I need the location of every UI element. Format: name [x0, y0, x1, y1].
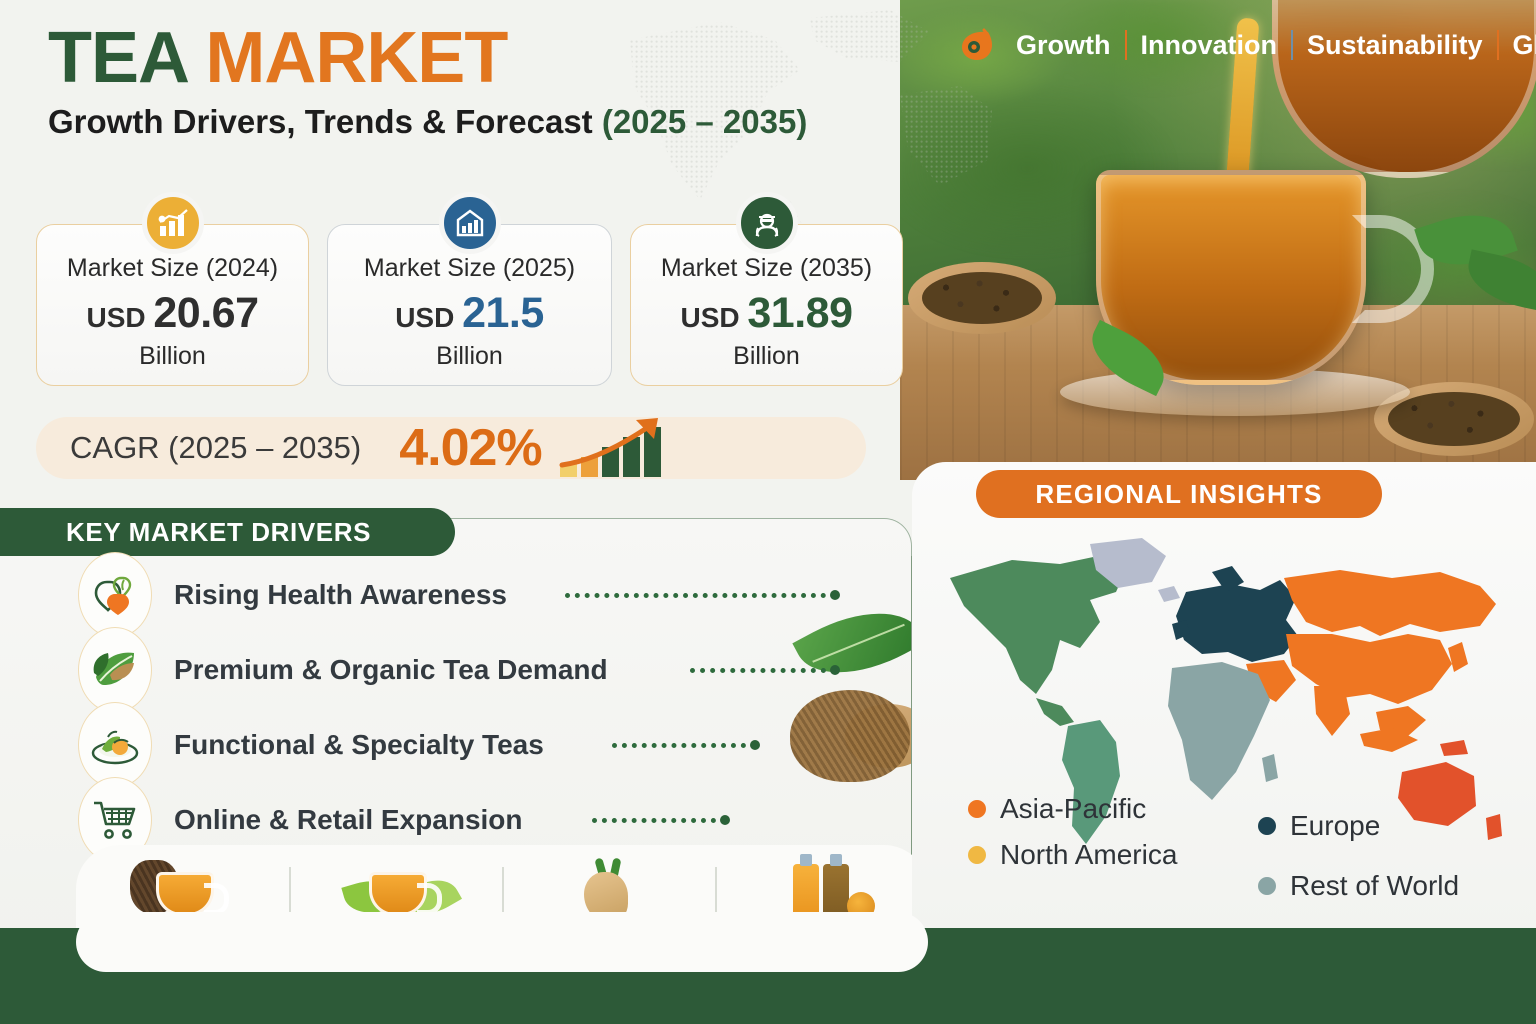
stat-currency: USD — [680, 302, 739, 333]
regional-heading-banner: REGIONAL INSIGHTS — [976, 470, 1382, 518]
stat-currency: USD — [86, 302, 145, 333]
legend-label: North America — [1000, 839, 1177, 871]
herbal-plate-icon — [78, 702, 152, 788]
decor-loose-tea-leaves — [790, 690, 910, 782]
stat-value: USD 20.67 — [86, 289, 258, 338]
footer-item-innovation[interactable]: Innovation — [1127, 30, 1292, 61]
legend-dot-icon — [1258, 877, 1276, 895]
stat-number: 21.5 — [462, 289, 544, 337]
driver-label: Rising Health Awareness — [174, 579, 507, 611]
legend-item-rest-of-world[interactable]: Rest of World — [1258, 870, 1528, 902]
stat-unit: Billion — [139, 342, 206, 371]
cagr-label: CAGR (2025 – 2035) — [70, 430, 361, 466]
footer-item-growth[interactable]: Growth — [1002, 30, 1125, 61]
legend-item-north-america[interactable]: North America — [968, 839, 1258, 871]
page-subtitle: Growth Drivers, Trends & Forecast (2025 … — [48, 103, 928, 141]
stat-card-2024[interactable]: Market Size (2024) USD 20.67 Billion — [36, 224, 309, 386]
page-title: TEA MARKET — [48, 22, 928, 95]
stat-label: Market Size (2025) — [364, 254, 575, 283]
map-region-asia-mainland — [1286, 634, 1452, 704]
driver-label: Premium & Organic Tea Demand — [174, 654, 608, 686]
legend-dot-icon — [968, 800, 986, 818]
driver-label: Functional & Specialty Teas — [174, 729, 544, 761]
map-region-iceland — [1158, 586, 1180, 602]
map-region-png — [1440, 740, 1468, 756]
stat-value: USD 31.89 — [680, 289, 852, 338]
cagr-value: 4.02% — [399, 418, 541, 478]
bar-chart-growth-icon — [142, 192, 204, 254]
footer-item-sustainability[interactable]: Sustainability — [1293, 30, 1497, 61]
legend-dot-icon — [968, 846, 986, 864]
subtitle-years: (2025 – 2035) — [602, 103, 808, 140]
legend-dot-icon — [1258, 817, 1276, 835]
stat-label: Market Size (2035) — [661, 254, 872, 283]
growth-bar-arrow-icon — [558, 417, 673, 479]
legend-item-asia-pacific[interactable]: Asia-Pacific — [968, 793, 1258, 825]
factory-chart-icon — [439, 192, 501, 254]
drivers-heading-banner: KEY MARKET DRIVERS — [0, 508, 455, 556]
map-region-asia-pacific — [1284, 570, 1496, 636]
subtitle-main: Growth Drivers, Trends & Forecast — [48, 103, 593, 140]
legend-label: Asia-Pacific — [1000, 793, 1146, 825]
title-word-tea: TEA — [48, 18, 186, 98]
legend-label: Europe — [1290, 810, 1380, 842]
driver-connector-4 — [592, 815, 730, 825]
stat-currency: USD — [395, 302, 454, 333]
stat-number: 20.67 — [153, 289, 258, 337]
driver-row-premium-organic-tea-demand[interactable]: Premium & Organic Tea Demand — [78, 631, 608, 709]
tea-farmer-icon — [736, 192, 798, 254]
regional-heading-label: REGIONAL INSIGHTS — [1035, 479, 1322, 510]
growth-leaf-logo-icon — [960, 28, 994, 62]
driver-connector-2 — [690, 665, 840, 675]
stat-unit: Billion — [733, 342, 800, 371]
footer-taglines: Growth Innovation Sustainability Global … — [960, 28, 1536, 62]
driver-row-functional-specialty-teas[interactable]: Functional & Specialty Teas — [78, 706, 544, 784]
regional-legend: Asia-Pacific North America Europe Rest o… — [968, 786, 1528, 878]
footer-card-notch — [76, 912, 928, 972]
map-region-north-america — [950, 556, 1126, 694]
map-region-japan — [1448, 642, 1468, 672]
stat-value: USD 21.5 — [395, 289, 544, 338]
market-size-stat-cards: Market Size (2024) USD 20.67 Billion Mar… — [36, 224, 903, 386]
cagr-banner: CAGR (2025 – 2035) 4.02% — [36, 417, 866, 479]
driver-connector-1 — [565, 590, 840, 600]
driver-label: Online & Retail Expansion — [174, 804, 523, 836]
tea-leaf-icon — [78, 627, 152, 713]
heart-health-icon — [78, 552, 152, 638]
map-region-europe — [1176, 580, 1298, 662]
map-region-madagascar — [1262, 754, 1278, 782]
stat-label: Market Size (2024) — [67, 254, 278, 283]
header: TEA MARKET Growth Drivers, Trends & Fore… — [48, 22, 928, 141]
driver-row-rising-health-awareness[interactable]: Rising Health Awareness — [78, 556, 507, 634]
stat-number: 31.89 — [747, 289, 852, 337]
title-word-market: MARKET — [205, 18, 507, 98]
legend-item-europe[interactable]: Europe — [1258, 810, 1528, 842]
stat-unit: Billion — [436, 342, 503, 371]
infographic-canvas: TEA MARKET Growth Drivers, Trends & Fore… — [0, 0, 1536, 1024]
legend-label: Rest of World — [1290, 870, 1459, 902]
footer-item-global-demand[interactable]: Global Demand — [1499, 30, 1536, 61]
drivers-heading-label: KEY MARKET DRIVERS — [66, 517, 371, 548]
map-region-africa — [1168, 662, 1270, 800]
map-region-central-america — [1036, 698, 1074, 726]
stat-card-2025[interactable]: Market Size (2025) USD 21.5 Billion — [327, 224, 612, 386]
map-region-india — [1314, 686, 1350, 736]
stat-card-2035[interactable]: Market Size (2035) USD 31.89 Billion — [630, 224, 903, 386]
driver-connector-3 — [612, 740, 760, 750]
